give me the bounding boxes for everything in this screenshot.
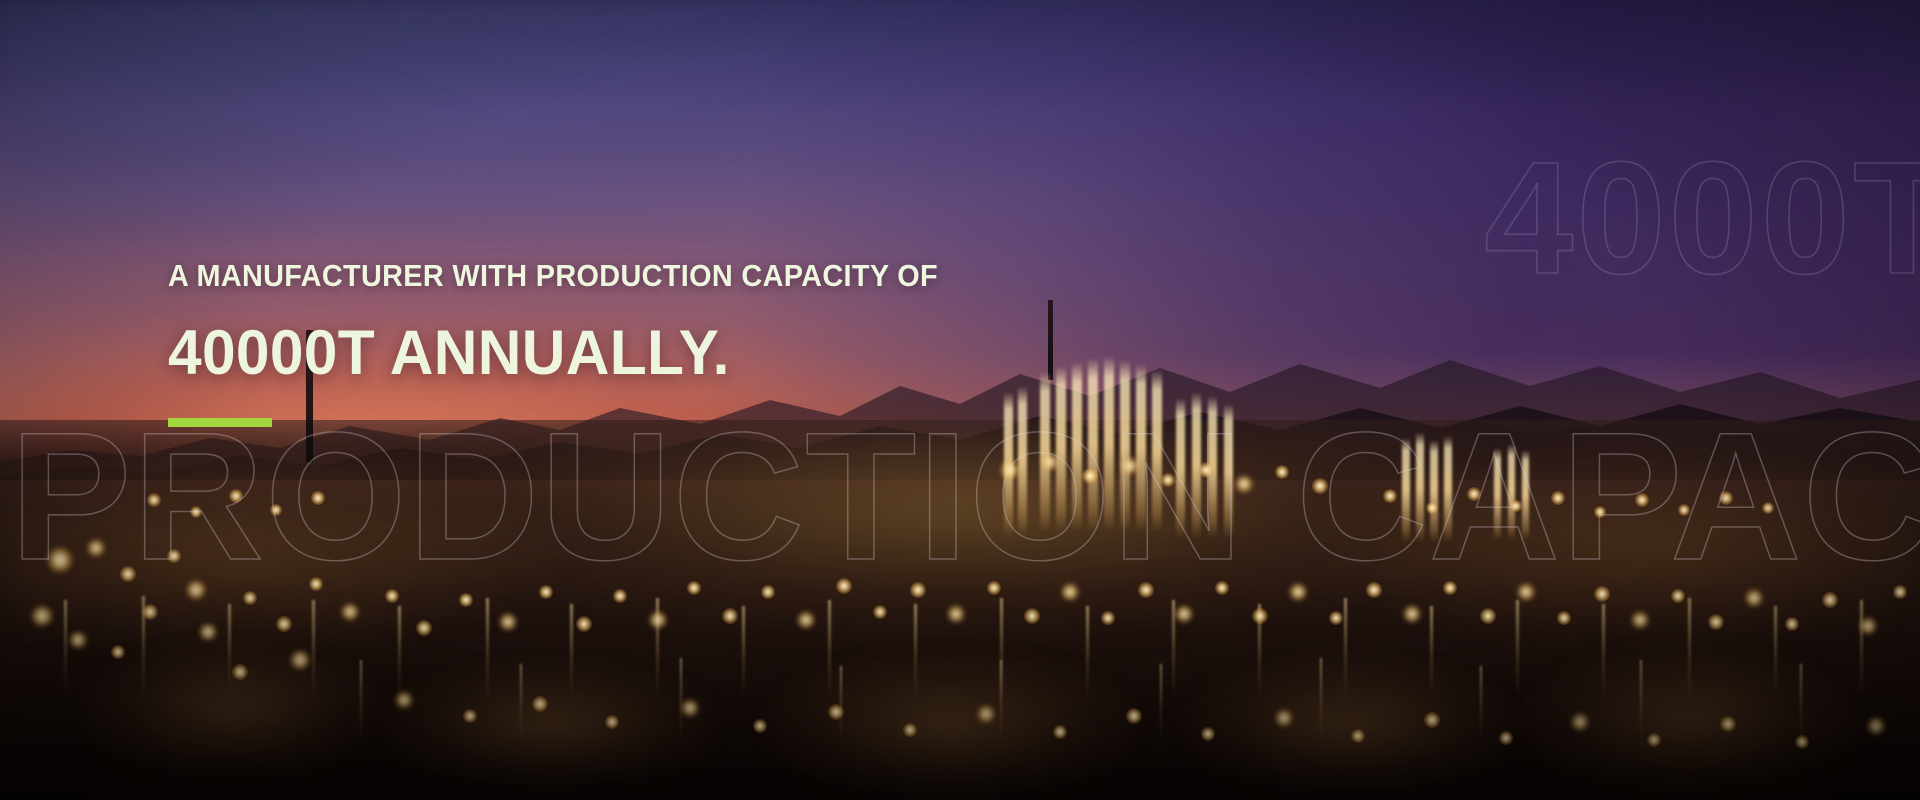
- plant-glow: [0, 430, 1920, 730]
- banner-eyebrow: A MANUFACTURER WITH PRODUCTION CAPACITY …: [168, 258, 938, 294]
- banner-headline: 40000T ANNUALLY.: [168, 322, 963, 385]
- hero-banner: 4000T PRODUCTION CAPACITY A MANUFACTURER…: [0, 0, 1920, 800]
- accent-bar: [168, 418, 272, 427]
- banner-copy: A MANUFACTURER WITH PRODUCTION CAPACITY …: [168, 258, 996, 427]
